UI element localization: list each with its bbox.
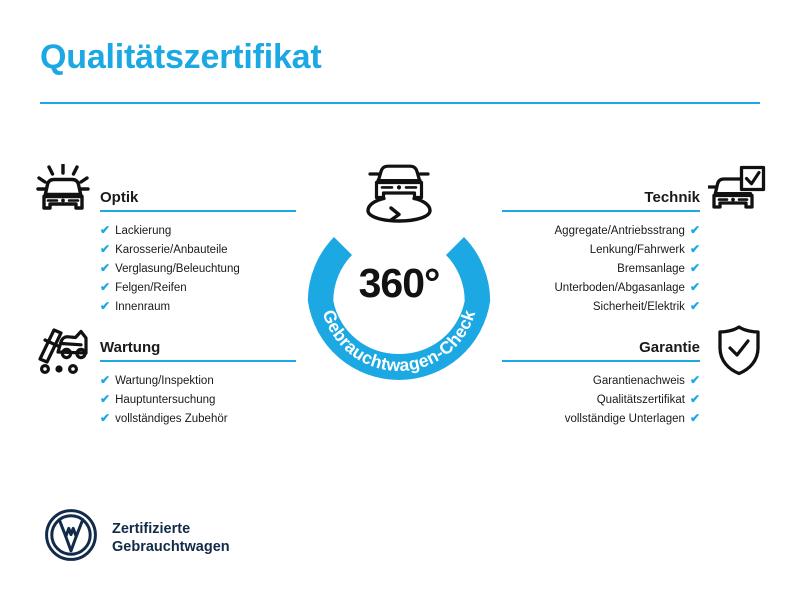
check-icon: ✔ [100, 278, 110, 296]
checklist-item: ✔Hauptuntersuchung [100, 390, 296, 409]
section-garantie-header: Garantie [502, 332, 700, 362]
car-checkbox-icon [708, 165, 766, 220]
check-icon: ✔ [690, 371, 700, 389]
checklist-item-label: Lackierung [115, 222, 171, 240]
checklist-item-label: Lenkung/Fahrwerk [590, 241, 685, 259]
page-title: Qualitätszertifikat [40, 38, 322, 77]
vw-brand-footer: Zertifizierte Gebrauchtwagen [44, 508, 230, 567]
check-icon: ✔ [690, 297, 700, 315]
checklist-item-label: Felgen/Reifen [115, 279, 187, 297]
checklist-item: Qualitätszertifikat✔ [502, 390, 700, 409]
section-wartung-list: ✔Wartung/Inspektion✔Hauptuntersuchung✔vo… [100, 371, 296, 428]
check-icon: ✔ [100, 371, 110, 389]
section-optik: Optik ✔Lackierung✔Karosserie/Anbauteile✔… [100, 182, 296, 316]
section-optik-list: ✔Lackierung✔Karosserie/Anbauteile✔Vergla… [100, 221, 296, 316]
section-optik-divider [100, 210, 296, 212]
car-shine-icon [36, 164, 90, 221]
section-technik-header: Technik [502, 182, 700, 212]
section-optik-title: Optik [100, 189, 138, 206]
check-icon: ✔ [690, 390, 700, 408]
check-icon: ✔ [100, 259, 110, 277]
checklist-item-label: Karosserie/Anbauteile [115, 241, 228, 259]
section-technik-title: Technik [644, 189, 700, 206]
vw-logo-icon [44, 508, 98, 567]
badge-360-gebrauchtwagen-check: Gebrauchtwagen-Check 360° [298, 196, 500, 380]
section-garantie-list: Garantienachweis✔Qualitätszertifikat✔vol… [502, 371, 700, 428]
badge-curved-label: Gebrauchtwagen-Check [319, 307, 480, 375]
check-icon: ✔ [100, 240, 110, 258]
section-technik-divider [502, 210, 700, 212]
check-icon: ✔ [100, 409, 110, 427]
section-garantie-divider [502, 360, 700, 362]
checklist-item: vollständige Unterlagen✔ [502, 409, 700, 428]
check-icon: ✔ [690, 409, 700, 427]
badge-degrees-label: 360° [298, 260, 500, 307]
check-icon: ✔ [690, 278, 700, 296]
section-wartung: Wartung ✔Wartung/Inspektion✔Hauptuntersu… [100, 332, 296, 428]
checklist-item-label: vollständige Unterlagen [565, 410, 685, 428]
header-divider [40, 102, 760, 104]
checklist-item: ✔Lackierung [100, 221, 296, 240]
checklist-item-label: Unterboden/Abgasanlage [555, 279, 685, 297]
vw-brand-text: Zertifizierte Gebrauchtwagen [112, 520, 230, 556]
checklist-item: ✔Wartung/Inspektion [100, 371, 296, 390]
certificate-page: Qualitätszertifikat [0, 0, 800, 600]
section-wartung-header: Wartung [100, 332, 296, 362]
checklist-item-label: Sicherheit/Elektrik [593, 298, 685, 316]
section-wartung-divider [100, 360, 296, 362]
car-rotate-360-icon [348, 158, 450, 229]
checklist-item-label: Aggregate/Antriebsstrang [555, 222, 685, 240]
section-technik: Technik Aggregate/Antriebsstrang✔Lenkung… [502, 182, 700, 316]
checklist-item: Garantienachweis✔ [502, 371, 700, 390]
check-icon: ✔ [690, 240, 700, 258]
checklist-item-label: Wartung/Inspektion [115, 372, 214, 390]
vw-brand-line1: Zertifizierte [112, 520, 230, 538]
checklist-item: Aggregate/Antriebsstrang✔ [502, 221, 700, 240]
section-technik-list: Aggregate/Antriebsstrang✔Lenkung/Fahrwer… [502, 221, 700, 316]
checklist-item: ✔Verglasung/Beleuchtung [100, 259, 296, 278]
shield-check-icon [716, 324, 762, 381]
section-optik-header: Optik [100, 182, 296, 212]
checklist-item: ✔vollständiges Zubehör [100, 409, 296, 428]
checklist-item-label: vollständiges Zubehör [115, 410, 228, 428]
checklist-item: Sicherheit/Elektrik✔ [502, 297, 700, 316]
section-wartung-title: Wartung [100, 339, 160, 356]
checklist-item-label: Qualitätszertifikat [597, 391, 685, 409]
check-icon: ✔ [100, 297, 110, 315]
checklist-item: ✔Innenraum [100, 297, 296, 316]
checklist-item: Bremsanlage✔ [502, 259, 700, 278]
checklist-item: Unterboden/Abgasanlage✔ [502, 278, 700, 297]
check-icon: ✔ [100, 221, 110, 239]
checklist-item-label: Bremsanlage [617, 260, 685, 278]
check-icon: ✔ [690, 221, 700, 239]
section-garantie-title: Garantie [639, 339, 700, 356]
check-icon: ✔ [690, 259, 700, 277]
vw-brand-line2: Gebrauchtwagen [112, 538, 230, 556]
checklist-item: ✔Karosserie/Anbauteile [100, 240, 296, 259]
checklist-item-label: Verglasung/Beleuchtung [115, 260, 240, 278]
checklist-item-label: Hauptuntersuchung [115, 391, 215, 409]
section-garantie: Garantie Garantienachweis✔Qualitätszerti… [502, 332, 700, 428]
checklist-item: ✔Felgen/Reifen [100, 278, 296, 297]
checklist-item-label: Innenraum [115, 298, 170, 316]
checklist-item-label: Garantienachweis [593, 372, 685, 390]
checklist-item: Lenkung/Fahrwerk✔ [502, 240, 700, 259]
check-icon: ✔ [100, 390, 110, 408]
car-on-lift-icon [34, 322, 90, 381]
